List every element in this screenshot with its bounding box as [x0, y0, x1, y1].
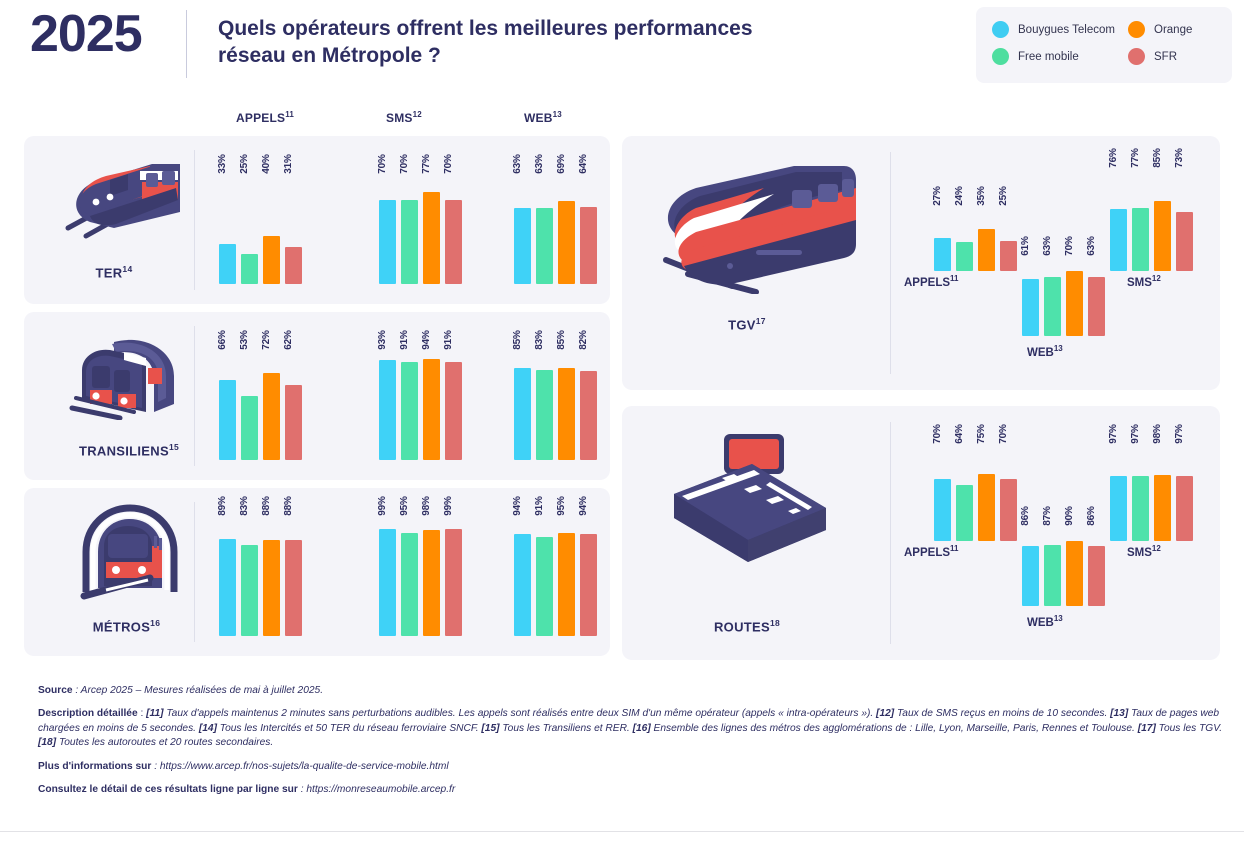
bar-value-label: 40% [261, 154, 272, 173]
bar-bouygues [219, 244, 236, 284]
metric-label-routes-appels: APPELS11 [904, 544, 958, 559]
legend-dot-icon [992, 21, 1009, 38]
bar-value-label: 87% [1042, 506, 1053, 525]
bar-value-label: 99% [443, 496, 454, 515]
card-label-transiliens: TRANSILIENS15 [24, 442, 234, 458]
bar-orange [978, 229, 995, 271]
bar-item: 99% [379, 506, 396, 636]
metro-train-icon [66, 502, 194, 602]
bar-item: 88% [285, 506, 302, 636]
bar-value-label: 98% [1152, 424, 1163, 443]
column-heading-note: 11 [285, 110, 294, 119]
footnote-ref-14: [14] [199, 723, 217, 734]
bar-value-label: 83% [534, 330, 545, 349]
card-label-text: TRANSILIENS [79, 443, 169, 458]
card-label-note: 18 [770, 618, 780, 628]
card-metros[interactable]: MÉTROS16 89% 83% 88% 88% [24, 488, 610, 656]
footer-description-label: Description détaillée [38, 708, 138, 719]
footnote-text-18: Toutes les autoroutes et 20 routes secon… [56, 737, 273, 748]
footnote-ref-15: [15] [481, 723, 499, 734]
column-heading-label: APPELS [236, 111, 285, 125]
bar-orange [423, 530, 440, 636]
bar-item: 87% [1044, 516, 1061, 606]
bar-sfr [445, 362, 462, 460]
card-label-text: TGV [728, 317, 756, 332]
bar-sfr [285, 385, 302, 460]
bar-item: 27% [934, 196, 951, 271]
metric-label-text: SMS [1127, 547, 1152, 559]
bar-item: 70% [934, 434, 951, 541]
bar-sfr [285, 247, 302, 284]
bar-item: 75% [978, 434, 995, 541]
bar-value-label: 64% [954, 424, 965, 443]
footnote-text-12: Taux de SMS reçus en moins de 10 seconde… [894, 708, 1110, 719]
card-label-note: 14 [122, 264, 132, 274]
footer-source-line: Source : Arcep 2025 – Mesures réalisées … [38, 684, 1228, 698]
bar-orange [263, 236, 280, 284]
bar-bouygues [514, 534, 531, 636]
bar-free [1132, 208, 1149, 271]
bar-bouygues [379, 529, 396, 636]
card-label-note: 15 [169, 442, 179, 452]
bar-bouygues [934, 238, 951, 271]
bar-item: 24% [956, 196, 973, 271]
bar-value-label: 91% [443, 330, 454, 349]
bar-item: 77% [1132, 158, 1149, 271]
bar-item: 91% [536, 506, 553, 636]
bar-group-routes-appels: 70% 64% 75% 70% [934, 434, 1034, 541]
bar-value-label: 77% [1130, 148, 1141, 167]
bar-group-ter-appels: 33% 25% 40% 31% [219, 164, 319, 284]
bar-item: 70% [401, 164, 418, 284]
bar-free [401, 533, 418, 636]
bar-item: 89% [219, 506, 236, 636]
bar-sfr [1088, 277, 1105, 336]
column-heading-label: WEB [524, 111, 553, 125]
footnote-text-11: Taux d'appels maintenus 2 minutes sans p… [164, 708, 877, 719]
bar-item: 91% [445, 340, 462, 460]
bar-value-label: 66% [217, 330, 228, 349]
bar-sfr [1000, 241, 1017, 271]
bar-bouygues [1110, 209, 1127, 271]
bar-group-routes-sms: 97% 97% 98% 97% [1110, 434, 1210, 541]
card-label-routes: ROUTES18 [622, 618, 872, 634]
bar-item: 64% [580, 164, 597, 284]
bar-value-label: 95% [399, 496, 410, 515]
page-title: Quels opérateurs offrent les meilleures … [218, 16, 778, 70]
bar-item: 97% [1132, 434, 1149, 541]
metric-label-routes-sms: SMS12 [1127, 544, 1161, 559]
card-divider [890, 152, 891, 374]
bar-bouygues [219, 539, 236, 636]
metric-label-routes-web: WEB13 [1027, 614, 1063, 629]
bar-item: 25% [1000, 196, 1017, 271]
bar-item: 85% [1154, 158, 1171, 271]
legend-item-bouygues: Bouygues Telecom [992, 21, 1128, 38]
bar-group-tgv-appels: 27% 24% 35% 25% [934, 196, 1034, 271]
metric-label-text: WEB [1027, 617, 1054, 629]
bar-item: 70% [445, 164, 462, 284]
bar-sfr [1176, 476, 1193, 541]
card-divider [194, 150, 195, 290]
legend-label: Orange [1154, 24, 1192, 36]
bar-item: 90% [1066, 516, 1083, 606]
bar-value-label: 97% [1130, 424, 1141, 443]
bar-item: 77% [423, 164, 440, 284]
bar-item: 62% [285, 340, 302, 460]
bar-item: 61% [1022, 246, 1039, 336]
bar-value-label: 25% [998, 186, 1009, 205]
bar-orange [558, 533, 575, 636]
bar-bouygues [379, 360, 396, 460]
left-column-headings: APPELS11 SMS12 WEB13 [0, 106, 620, 130]
bar-item: 98% [1154, 434, 1171, 541]
bar-bouygues [1022, 279, 1039, 336]
bar-item: 98% [423, 506, 440, 636]
bar-item: 63% [1044, 246, 1061, 336]
card-label-text: MÉTROS [93, 619, 150, 634]
legend-label: Free mobile [1018, 51, 1079, 63]
metric-label-note: 12 [1152, 274, 1161, 283]
bar-item: 85% [558, 340, 575, 460]
column-heading-web: WEB13 [524, 110, 562, 125]
bar-value-label: 70% [399, 154, 410, 173]
bar-value-label: 77% [421, 154, 432, 173]
card-divider [194, 326, 195, 466]
column-heading-note: 12 [413, 110, 422, 119]
footer-detail-label: Consultez le détail de ces résultats lig… [38, 784, 298, 795]
card-label-tgv: TGV17 [622, 316, 872, 332]
bar-sfr [1000, 479, 1017, 541]
bar-orange [423, 192, 440, 284]
bar-free [241, 545, 258, 636]
footer-colon: : [138, 708, 147, 719]
footer-description-line: Description détaillée : [11] Taux d'appe… [38, 707, 1228, 750]
bar-value-label: 53% [239, 330, 250, 349]
bar-sfr [445, 529, 462, 636]
metric-label-note: 12 [1152, 544, 1161, 553]
bar-item: 63% [1088, 246, 1105, 336]
bar-bouygues [514, 208, 531, 284]
bar-value-label: 63% [1086, 236, 1097, 255]
footer-source-text: : Arcep 2025 – Mesures réalisées de mai … [73, 685, 323, 696]
bar-group-metros-appels: 89% 83% 88% 88% [219, 506, 319, 636]
card-label-metros: MÉTROS16 [24, 618, 229, 634]
bar-value-label: 98% [421, 496, 432, 515]
metric-label-text: WEB [1027, 347, 1054, 359]
bar-item: 93% [379, 340, 396, 460]
bar-sfr [580, 371, 597, 460]
metric-label-note: 11 [950, 274, 958, 283]
transilien-train-icon [62, 328, 197, 420]
card-ter[interactable]: TER14 33% 25% 40% 31% [24, 136, 610, 304]
card-label-note: 16 [150, 618, 160, 628]
bar-value-label: 75% [976, 424, 987, 443]
bar-value-label: 33% [217, 154, 228, 173]
footnote-text-15: Tous les Transiliens et RER. [500, 723, 633, 734]
bar-group-transiliens-appels: 66% 53% 72% 62% [219, 340, 319, 460]
bar-item: 97% [1110, 434, 1127, 541]
footnote-ref-12: [12] [876, 708, 894, 719]
bar-group-ter-web: 63% 63% 69% 64% [514, 164, 614, 284]
bar-value-label: 86% [1020, 506, 1031, 525]
column-heading-sms: SMS12 [386, 110, 422, 125]
year-label: 2025 [30, 8, 142, 60]
bar-value-label: 86% [1086, 506, 1097, 525]
bar-item: 66% [219, 340, 236, 460]
bar-item: 70% [1066, 246, 1083, 336]
bar-free [241, 396, 258, 460]
bar-value-label: 91% [399, 330, 410, 349]
bar-sfr [285, 540, 302, 636]
bar-value-label: 70% [377, 154, 388, 173]
footnote-text-17: Tous les TGV. [1156, 723, 1222, 734]
bar-item: 83% [536, 340, 553, 460]
footer-detail-url[interactable]: : https://monreseaumobile.arcep.fr [298, 784, 455, 795]
bar-value-label: 63% [534, 154, 545, 173]
bar-value-label: 89% [217, 496, 228, 515]
bar-sfr [580, 534, 597, 636]
bar-item: 76% [1110, 158, 1127, 271]
bar-value-label: 85% [512, 330, 523, 349]
bar-value-label: 31% [283, 154, 294, 173]
bar-value-label: 70% [443, 154, 454, 173]
bar-item: 97% [1176, 434, 1193, 541]
card-label-text: ROUTES [714, 619, 770, 634]
bar-item: 31% [285, 164, 302, 284]
bar-value-label: 95% [556, 496, 567, 515]
footer-more-label: Plus d'informations sur [38, 761, 151, 772]
operator-legend: Bouygues Telecom Orange Free mobile SFR [976, 7, 1232, 83]
bar-item: 64% [956, 434, 973, 541]
bar-item: 85% [514, 340, 531, 460]
bar-value-label: 82% [578, 330, 589, 349]
bar-orange [423, 359, 440, 460]
bar-group-tgv-web: 61% 63% 70% 63% [1022, 246, 1122, 336]
bar-free [401, 362, 418, 460]
bar-sfr [580, 207, 597, 284]
footer-more-url[interactable]: : https://www.arcep.fr/nos-sujets/la-qua… [151, 761, 448, 772]
bar-item: 88% [263, 506, 280, 636]
bar-value-label: 64% [578, 154, 589, 173]
footnote-ref-13: [13] [1110, 708, 1128, 719]
column-heading-appels: APPELS11 [236, 110, 294, 125]
footer-source-label: Source [38, 685, 73, 696]
bar-free [1044, 545, 1061, 606]
bar-item: 94% [423, 340, 440, 460]
bar-value-label: 94% [512, 496, 523, 515]
bar-item: 33% [219, 164, 236, 284]
bar-value-label: 94% [578, 496, 589, 515]
bar-value-label: 63% [1042, 236, 1053, 255]
bar-item: 63% [514, 164, 531, 284]
bar-free [1132, 476, 1149, 541]
bar-group-transiliens-web: 85% 83% 85% 82% [514, 340, 614, 460]
bar-item: 86% [1088, 516, 1105, 606]
bar-value-label: 62% [283, 330, 294, 349]
bar-item: 25% [241, 164, 258, 284]
bar-item: 72% [263, 340, 280, 460]
bar-sfr [1176, 212, 1193, 271]
metric-label-note: 13 [1054, 344, 1063, 353]
bar-orange [1154, 475, 1171, 541]
bar-free [1044, 277, 1061, 336]
metric-label-tgv-sms: SMS12 [1127, 274, 1161, 289]
bar-value-label: 72% [261, 330, 272, 349]
bar-item: 35% [978, 196, 995, 271]
bar-value-label: 90% [1064, 506, 1075, 525]
bar-value-label: 85% [556, 330, 567, 349]
bar-item: 83% [241, 506, 258, 636]
metric-label-note: 13 [1054, 614, 1063, 623]
bar-item: 86% [1022, 516, 1039, 606]
bar-value-label: 24% [954, 186, 965, 205]
legend-label: SFR [1154, 51, 1177, 63]
metric-label-text: SMS [1127, 277, 1152, 289]
card-routes[interactable]: ROUTES18 70% 64% 75% 70% [622, 406, 1220, 660]
bar-free [401, 200, 418, 284]
bar-value-label: 93% [377, 330, 388, 349]
bar-value-label: 88% [261, 496, 272, 515]
bar-item: 82% [580, 340, 597, 460]
card-label-text: TER [96, 265, 123, 280]
bar-value-label: 76% [1108, 148, 1119, 167]
bar-free [536, 370, 553, 460]
bar-item: 94% [514, 506, 531, 636]
footer-notes: Source : Arcep 2025 – Mesures réalisées … [38, 684, 1228, 807]
bar-item: 70% [379, 164, 396, 284]
bar-value-label: 27% [932, 186, 943, 205]
column-heading-label: SMS [386, 111, 413, 125]
bar-free [956, 485, 973, 541]
infographic-page: 2025 Quels opérateurs offrent les meille… [0, 0, 1244, 843]
bar-value-label: 97% [1174, 424, 1185, 443]
bar-free [536, 208, 553, 284]
footnote-ref-17: [17] [1138, 723, 1156, 734]
footnote-ref-18: [18] [38, 737, 56, 748]
bar-item: 73% [1176, 158, 1193, 271]
metric-label-tgv-web: WEB13 [1027, 344, 1063, 359]
bar-value-label: 97% [1108, 424, 1119, 443]
bar-value-label: 99% [377, 496, 388, 515]
bar-bouygues [934, 479, 951, 541]
card-divider [890, 422, 891, 644]
bar-sfr [1088, 546, 1105, 606]
bar-free [241, 254, 258, 284]
bar-item: 95% [401, 506, 418, 636]
bar-orange [1066, 541, 1083, 606]
column-heading-note: 13 [553, 110, 562, 119]
footnote-ref-11: [11] [146, 708, 163, 719]
bar-value-label: 83% [239, 496, 250, 515]
bar-value-label: 70% [998, 424, 1009, 443]
footer-detail-line: Consultez le détail de ces résultats lig… [38, 783, 1228, 797]
bar-group-transiliens-sms: 93% 91% 94% 91% [379, 340, 479, 460]
bar-item: 63% [536, 164, 553, 284]
metric-label-note: 11 [950, 544, 958, 553]
bar-group-metros-web: 94% 91% 95% 94% [514, 506, 614, 636]
bar-free [956, 242, 973, 271]
bar-item: 94% [580, 506, 597, 636]
card-transiliens[interactable]: TRANSILIENS15 66% 53% 72% 62% [24, 312, 610, 480]
bar-group-metros-sms: 99% 95% 98% 99% [379, 506, 479, 636]
bottom-divider [0, 831, 1244, 832]
footnote-ref-16: [16] [633, 723, 651, 734]
legend-item-sfr: SFR [1128, 48, 1244, 65]
metric-label-text: APPELS [904, 547, 950, 559]
metric-label-tgv-appels: APPELS11 [904, 274, 958, 289]
metric-label-text: APPELS [904, 277, 950, 289]
bar-bouygues [514, 368, 531, 460]
bar-group-tgv-sms: 76% 77% 85% 73% [1110, 158, 1210, 271]
bar-item: 70% [1000, 434, 1017, 541]
bar-value-label: 70% [932, 424, 943, 443]
bar-orange [978, 474, 995, 541]
bar-value-label: 94% [421, 330, 432, 349]
bar-orange [558, 368, 575, 460]
bar-bouygues [1022, 546, 1039, 606]
ter-train-icon [54, 154, 204, 244]
bar-item: 91% [401, 340, 418, 460]
bar-group-ter-sms: 70% 70% 77% 70% [379, 164, 479, 284]
bar-value-label: 61% [1020, 236, 1031, 255]
bar-value-label: 88% [283, 496, 294, 515]
bar-free [536, 537, 553, 636]
footer-more-info-line: Plus d'informations sur : https://www.ar… [38, 760, 1228, 774]
bar-value-label: 69% [556, 154, 567, 173]
bar-value-label: 85% [1152, 148, 1163, 167]
legend-dot-icon [992, 48, 1009, 65]
card-tgv[interactable]: TGV17 27% 24% 35% 25% [622, 136, 1220, 390]
bar-orange [1066, 271, 1083, 336]
bar-value-label: 63% [512, 154, 523, 173]
bar-group-routes-web: 86% 87% 90% 86% [1022, 516, 1122, 606]
legend-label: Bouygues Telecom [1018, 24, 1115, 36]
bar-item: 69% [558, 164, 575, 284]
legend-dot-icon [1128, 21, 1145, 38]
road-icon [660, 426, 860, 586]
bar-orange [263, 540, 280, 636]
header-divider [186, 10, 187, 78]
bar-value-label: 73% [1174, 148, 1185, 167]
bar-value-label: 70% [1064, 236, 1075, 255]
bar-bouygues [219, 380, 236, 460]
bar-bouygues [379, 200, 396, 284]
legend-dot-icon [1128, 48, 1145, 65]
bar-orange [558, 201, 575, 284]
bar-orange [263, 373, 280, 460]
legend-item-orange: Orange [1128, 21, 1244, 38]
bar-item: 95% [558, 506, 575, 636]
bar-item: 40% [263, 164, 280, 284]
legend-item-free: Free mobile [992, 48, 1128, 65]
bar-value-label: 35% [976, 186, 987, 205]
card-divider [194, 502, 195, 642]
tgv-train-icon [644, 164, 874, 294]
card-label-note: 17 [756, 316, 766, 326]
bar-item: 99% [445, 506, 462, 636]
card-label-ter: TER14 [24, 264, 204, 280]
footnote-text-14: Tous les Intercités et 50 TER du réseau … [217, 723, 481, 734]
footnote-text-16: Ensemble des lignes des métros des agglo… [651, 723, 1138, 734]
bar-orange [1154, 201, 1171, 271]
bar-value-label: 25% [239, 154, 250, 173]
bar-value-label: 91% [534, 496, 545, 515]
bar-sfr [445, 200, 462, 284]
bar-bouygues [1110, 476, 1127, 541]
bar-item: 53% [241, 340, 258, 460]
